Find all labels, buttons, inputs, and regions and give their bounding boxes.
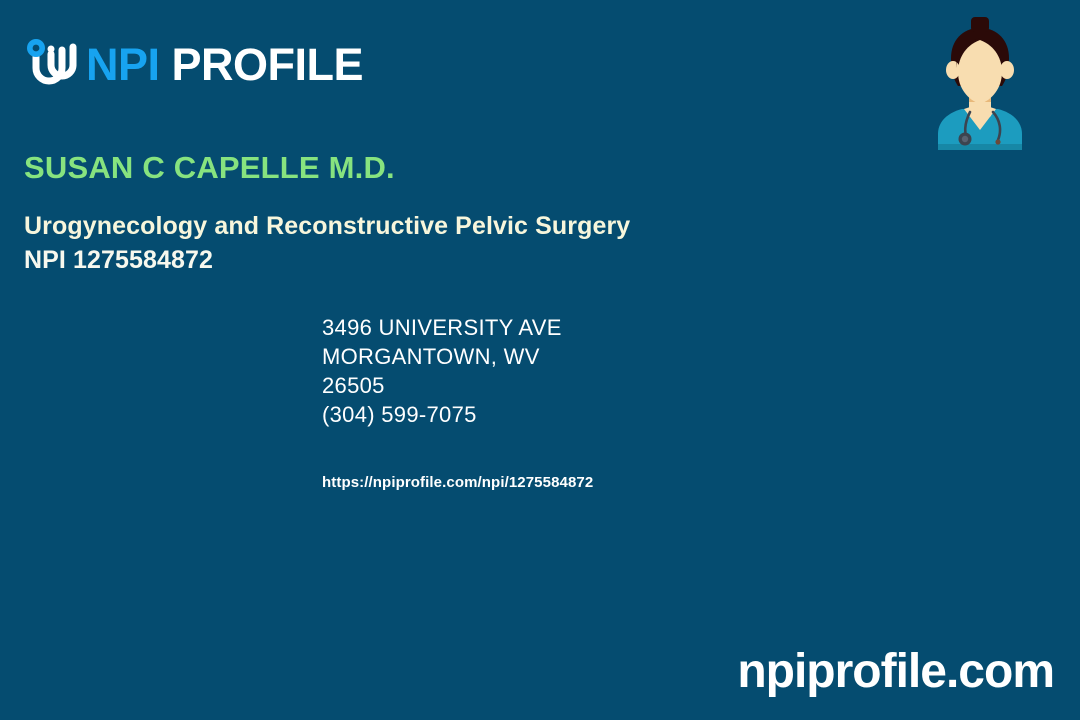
brand-header[interactable]: NPI PROFILE bbox=[24, 26, 363, 102]
profile-url-link[interactable]: https://npiprofile.com/npi/1275584872 bbox=[322, 473, 593, 493]
provider-npi-number: NPI 1275584872 bbox=[24, 243, 924, 277]
provider-info-block: SUSAN C CAPELLE M.D. Urogynecology and R… bbox=[24, 148, 924, 277]
female-doctor-avatar-icon bbox=[936, 16, 1024, 150]
address-phone: (304) 599-7075 bbox=[322, 400, 922, 429]
brand-name-profile: PROFILE bbox=[160, 39, 364, 90]
address-city-state: MORGANTOWN, WV bbox=[322, 342, 922, 371]
address-street: 3496 UNIVERSITY AVE bbox=[322, 313, 922, 342]
footer-site-wordmark[interactable]: npiprofile.com bbox=[737, 648, 1054, 696]
address-zip: 26505 bbox=[322, 371, 922, 400]
practice-address-block: 3496 UNIVERSITY AVE MORGANTOWN, WV 26505… bbox=[322, 313, 922, 429]
brand-wordmark: NPI PROFILE bbox=[86, 42, 363, 87]
provider-specialty: Urogynecology and Reconstructive Pelvic … bbox=[24, 209, 924, 243]
stethoscope-icon bbox=[24, 32, 86, 96]
npi-profile-card: NPI PROFILE bbox=[0, 0, 1080, 720]
brand-name-npi: NPI bbox=[86, 39, 160, 90]
provider-name: SUSAN C CAPELLE M.D. bbox=[24, 148, 924, 188]
